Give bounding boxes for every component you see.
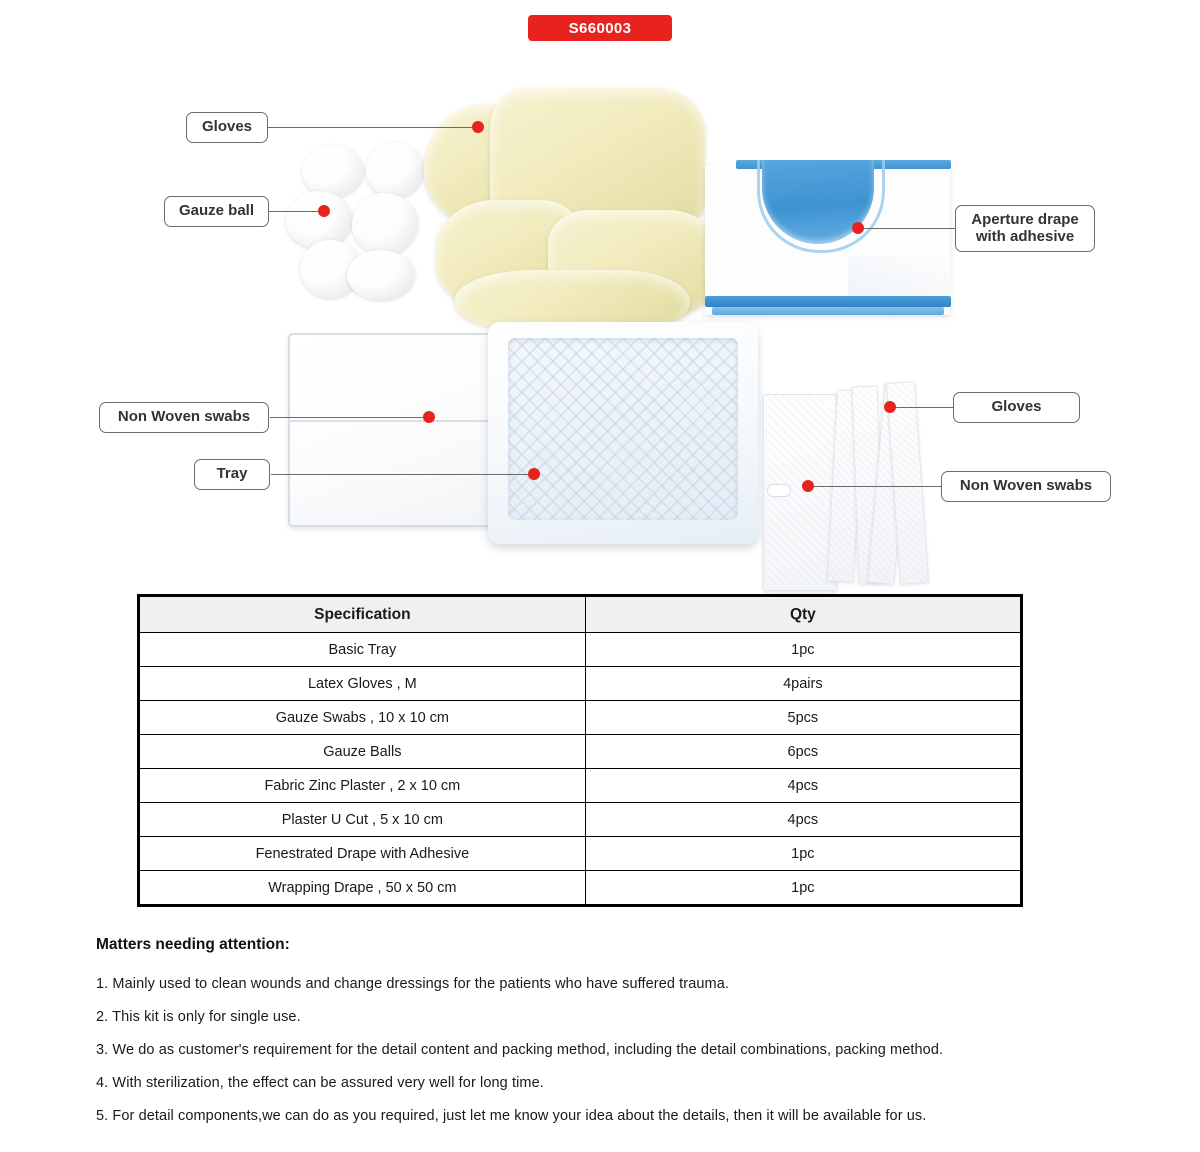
leader-line-tray [271, 474, 536, 475]
callout-label: Gloves [202, 119, 252, 136]
leader-line-non-woven-left [270, 417, 430, 418]
gauze-ball-item [366, 142, 424, 198]
non-woven-swab-fold-line [290, 420, 493, 422]
table-row: Gauze Swabs , 10 x 10 cm 5pcs [139, 701, 1022, 735]
column-header-qty: Qty [585, 596, 1021, 633]
cell-qty: 1pc [585, 633, 1021, 667]
cell-specification: Wrapping Drape , 50 x 50 cm [139, 871, 586, 906]
product-code-badge: S660003 [528, 15, 672, 41]
cell-qty: 6pcs [585, 735, 1021, 769]
marker-tray [528, 468, 540, 480]
gauze-ball-item [347, 250, 415, 300]
cell-specification: Plaster U Cut , 5 x 10 cm [139, 803, 586, 837]
table-row: Fenestrated Drape with Adhesive 1pc [139, 837, 1022, 871]
cell-qty: 1pc [585, 871, 1021, 906]
callout-gauze-ball[interactable]: Gauze ball [164, 196, 269, 227]
gauze-ball-item [302, 145, 364, 197]
cell-qty: 1pc [585, 837, 1021, 871]
aperture-drape-bottom-edge [705, 296, 951, 307]
table-row: Plaster U Cut , 5 x 10 cm 4pcs [139, 803, 1022, 837]
aperture-drape-bottom-edge-2 [712, 307, 944, 315]
callout-non-woven-swabs-left[interactable]: Non Woven swabs [99, 402, 269, 433]
cell-specification: Gauze Balls [139, 735, 586, 769]
leader-line-non-woven-right [812, 486, 942, 487]
cell-qty: 4pcs [585, 769, 1021, 803]
note-item: 4. With sterilization, the effect can be… [96, 1075, 1156, 1091]
cell-qty: 4pcs [585, 803, 1021, 837]
table-header-row: Specification Qty [139, 596, 1022, 633]
note-item: 1. Mainly used to clean wounds and chang… [96, 976, 1156, 992]
callout-label: Non Woven swabs [960, 478, 1092, 495]
callout-gloves-top[interactable]: Gloves [186, 112, 268, 143]
cell-qty: 5pcs [585, 701, 1021, 735]
callout-tray[interactable]: Tray [194, 459, 270, 490]
leader-line-aperture-drape [862, 228, 957, 229]
attention-notes: Matters needing attention: 1. Mainly use… [96, 936, 1156, 1141]
marker-gloves-top [472, 121, 484, 133]
cell-specification: Gauze Swabs , 10 x 10 cm [139, 701, 586, 735]
specification-table: Specification Qty Basic Tray 1pc Latex G… [137, 594, 1023, 907]
marker-non-woven-right [802, 480, 814, 492]
leader-line-gloves-top [265, 127, 480, 128]
cell-specification: Fabric Zinc Plaster , 2 x 10 cm [139, 769, 586, 803]
gauze-ball-item [352, 193, 418, 255]
marker-aperture-drape [852, 222, 864, 234]
table-row: Basic Tray 1pc [139, 633, 1022, 667]
note-item: 3. We do as customer's requirement for t… [96, 1042, 1156, 1058]
table-body: Basic Tray 1pc Latex Gloves , M 4pairs G… [139, 633, 1022, 906]
callout-label: Non Woven swabs [118, 409, 250, 426]
note-item: 5. For detail components,we can do as yo… [96, 1108, 1156, 1124]
callout-gloves-right[interactable]: Gloves [953, 392, 1080, 423]
table-row: Wrapping Drape , 50 x 50 cm 1pc [139, 871, 1022, 906]
basic-tray-interior [508, 338, 738, 520]
leader-line-gloves-right [892, 407, 954, 408]
callout-label: Aperture drape with adhesive [971, 212, 1079, 246]
cell-specification: Fenestrated Drape with Adhesive [139, 837, 586, 871]
gauze-ball-item [286, 191, 352, 249]
product-code-text: S660003 [569, 20, 632, 37]
cell-qty: 4pairs [585, 667, 1021, 701]
callout-label: Gauze ball [179, 203, 254, 220]
marker-gauze-ball [318, 205, 330, 217]
column-header-specification: Specification [139, 596, 586, 633]
callout-label: Gloves [991, 399, 1041, 416]
table-row: Gauze Balls 6pcs [139, 735, 1022, 769]
note-item: 2. This kit is only for single use. [96, 1009, 1156, 1025]
non-woven-swab-large [288, 333, 499, 527]
cell-specification: Latex Gloves , M [139, 667, 586, 701]
table-row: Fabric Zinc Plaster , 2 x 10 cm 4pcs [139, 769, 1022, 803]
marker-non-woven-left [423, 411, 435, 423]
non-woven-swab-slot [767, 484, 791, 497]
cell-specification: Basic Tray [139, 633, 586, 667]
callout-aperture-drape[interactable]: Aperture drape with adhesive [955, 205, 1095, 252]
table-row: Latex Gloves , M 4pairs [139, 667, 1022, 701]
callout-label: Tray [217, 466, 248, 483]
attention-notes-title: Matters needing attention: [96, 936, 1156, 954]
marker-gloves-right [884, 401, 896, 413]
callout-non-woven-swabs-right[interactable]: Non Woven swabs [941, 471, 1111, 502]
